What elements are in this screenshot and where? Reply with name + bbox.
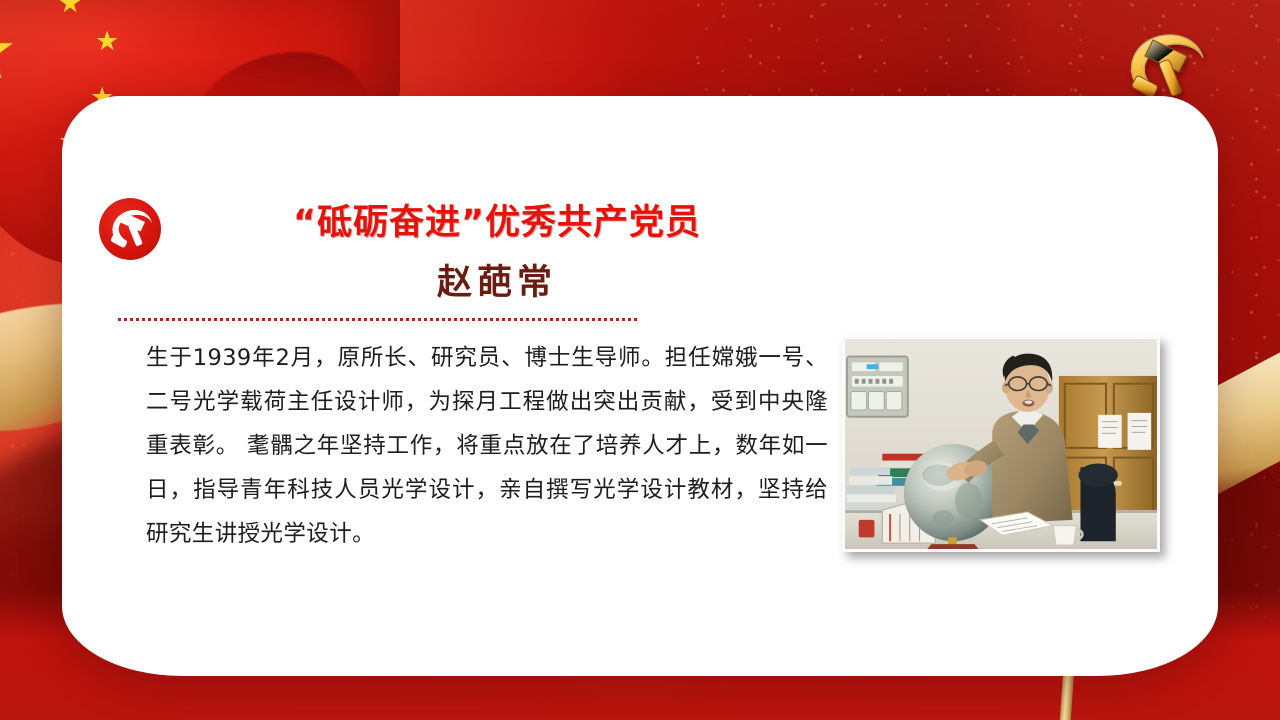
portrait-photo-man-with-globe bbox=[842, 336, 1160, 552]
party-emblem-badge-icon bbox=[99, 198, 161, 260]
flag-star-large: ★ bbox=[0, 12, 18, 90]
page-title: “砥砺奋进”优秀共产党员 bbox=[192, 194, 802, 245]
biography-text: 生于1939年2月，原所长、研究员、博士生导师。担任嫦娥一号、二号光学载荷主任设… bbox=[146, 336, 828, 556]
dotted-divider bbox=[118, 318, 640, 321]
flag-star-small-1: ★ bbox=[58, 0, 82, 17]
flag-star-small-2: ★ bbox=[95, 28, 119, 55]
title-block: “砥砺奋进”优秀共产党员 赵葩常 bbox=[192, 194, 802, 305]
person-name: 赵葩常 bbox=[192, 254, 802, 305]
content-card: “砥砺奋进”优秀共产党员 赵葩常 生于1939年2月，原所长、研究员、博士生导师… bbox=[62, 96, 1218, 676]
